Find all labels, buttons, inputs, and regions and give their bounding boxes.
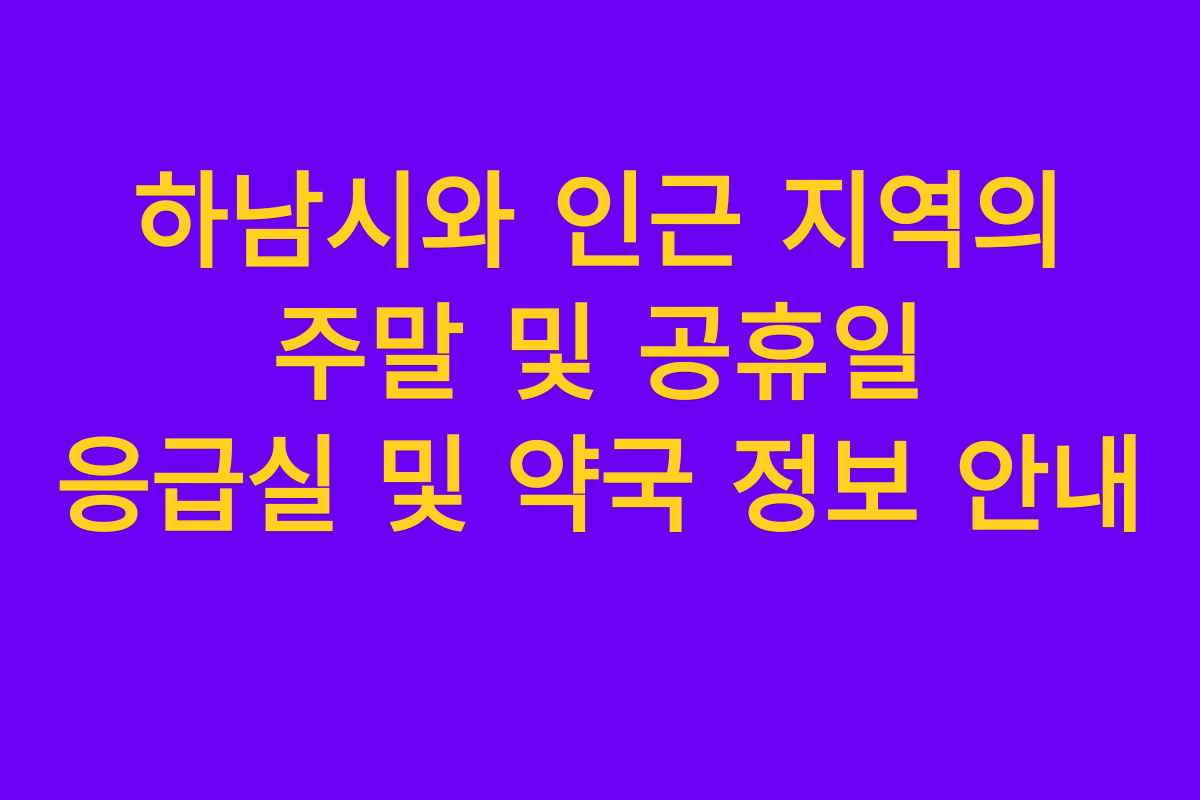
banner-canvas: 하남시와 인근 지역의 주말 및 공휴일 응급실 및 약국 정보 안내 bbox=[0, 0, 1200, 800]
headline-line-2: 주말 및 공휴일 bbox=[273, 288, 928, 420]
headline-line-1: 하남시와 인근 지역의 bbox=[133, 156, 1067, 288]
headline-block: 하남시와 인근 지역의 주말 및 공휴일 응급실 및 약국 정보 안내 bbox=[0, 156, 1200, 552]
headline-line-3: 응급실 및 약국 정보 안내 bbox=[56, 420, 1144, 552]
